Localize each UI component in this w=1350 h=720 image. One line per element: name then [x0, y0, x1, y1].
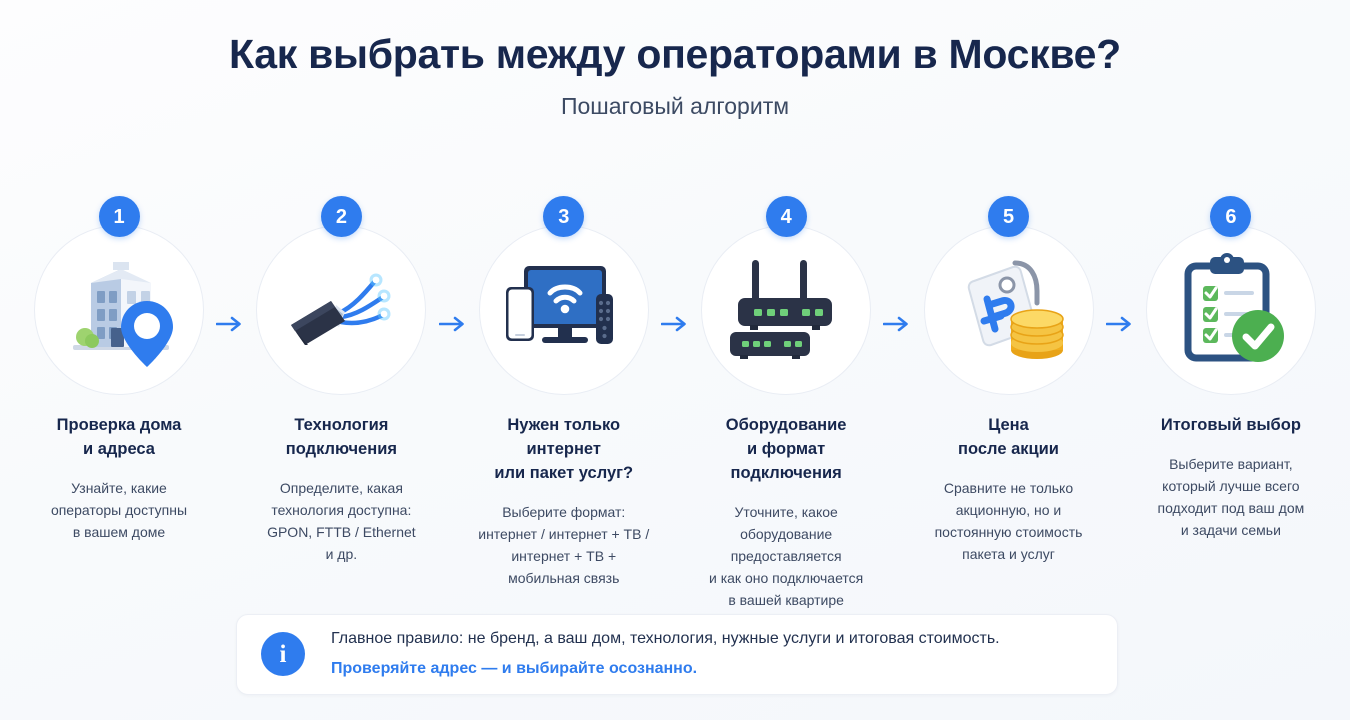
step-card-4: 4 — [693, 196, 879, 612]
step-number-badge-5: 5 — [988, 196, 1029, 237]
step-desc-3: Выберите формат: интернет / интернет + Т… — [478, 502, 649, 590]
step-desc-1: Узнайте, какие операторы доступны в ваше… — [51, 478, 187, 544]
arrow-connector-1 — [213, 314, 247, 334]
page-subtitle: Пошаговый алгоритм — [0, 93, 1350, 120]
step-icon-circle-1 — [34, 225, 204, 395]
infographic-page: Как выбрать между операторами в Москве? … — [0, 0, 1350, 720]
step-desc-6: Выберите вариант, который лучше всего по… — [1158, 454, 1305, 542]
step-card-2: 2 — [248, 196, 434, 566]
step-title-4: Оборудование и формат подключения — [693, 414, 879, 486]
step-icon-circle-5 — [924, 225, 1094, 395]
tv-phone-wifi-icon — [498, 254, 630, 366]
arrow-connector-3 — [658, 314, 692, 334]
header: Как выбрать между операторами в Москве? … — [0, 0, 1350, 120]
step-number-badge-3: 3 — [543, 196, 584, 237]
step-desc-2: Определите, какая технология доступна: G… — [267, 478, 416, 566]
step-title-2: Технология подключения — [286, 414, 397, 462]
step-number-badge-2: 2 — [321, 196, 362, 237]
arrow-connector-4 — [880, 314, 914, 334]
callout-box: i Главное правило: не бренд, а ваш дом, … — [236, 614, 1118, 695]
router-settopbox-icon — [722, 254, 850, 366]
callout-line-primary: Главное правило: не бренд, а ваш дом, те… — [331, 629, 1000, 650]
arrow-connector-2 — [436, 314, 470, 334]
price-tag-ruble-coins-icon — [945, 251, 1073, 369]
step-icon-circle-6 — [1146, 225, 1316, 395]
arrow-right-icon — [216, 314, 244, 334]
page-title: Как выбрать между операторами в Москве? — [0, 32, 1350, 78]
step-icon-circle-4 — [701, 225, 871, 395]
step-title-3: Нужен только интернет или пакет услуг? — [471, 414, 657, 486]
step-card-1: 1 — [26, 196, 212, 544]
arrow-right-icon — [883, 314, 911, 334]
info-glyph: i — [280, 642, 287, 667]
step-icon-circle-2 — [256, 225, 426, 395]
callout-line-highlight: Проверяйте адрес — и выбирайте осознанно… — [331, 659, 1000, 680]
arrow-right-icon — [661, 314, 689, 334]
step-icon-circle-3 — [479, 225, 649, 395]
step-desc-5: Сравните не только акционную, но и посто… — [935, 478, 1083, 566]
step-desc-4: Уточните, какое оборудование предоставля… — [693, 502, 879, 612]
step-card-5: 5 — [916, 196, 1102, 566]
step-title-5: Цена после акции — [958, 414, 1059, 462]
step-number-badge-1: 1 — [99, 196, 140, 237]
arrow-right-icon — [1106, 314, 1134, 334]
steps-row: 1 — [26, 196, 1324, 612]
arrow-connector-5 — [1103, 314, 1137, 334]
step-card-6: 6 — [1138, 196, 1324, 542]
step-number-badge-4: 4 — [766, 196, 807, 237]
fiber-optic-cable-icon — [277, 255, 405, 365]
arrow-right-icon — [439, 314, 467, 334]
clipboard-checklist-icon — [1170, 252, 1292, 368]
step-title-1: Проверка дома и адреса — [57, 414, 182, 462]
building-location-pin-icon — [55, 249, 183, 371]
info-icon: i — [261, 632, 305, 676]
step-title-6: Итоговый выбор — [1161, 414, 1301, 438]
callout-text: Главное правило: не бренд, а ваш дом, те… — [331, 629, 1000, 680]
step-card-3: 3 — [471, 196, 657, 590]
